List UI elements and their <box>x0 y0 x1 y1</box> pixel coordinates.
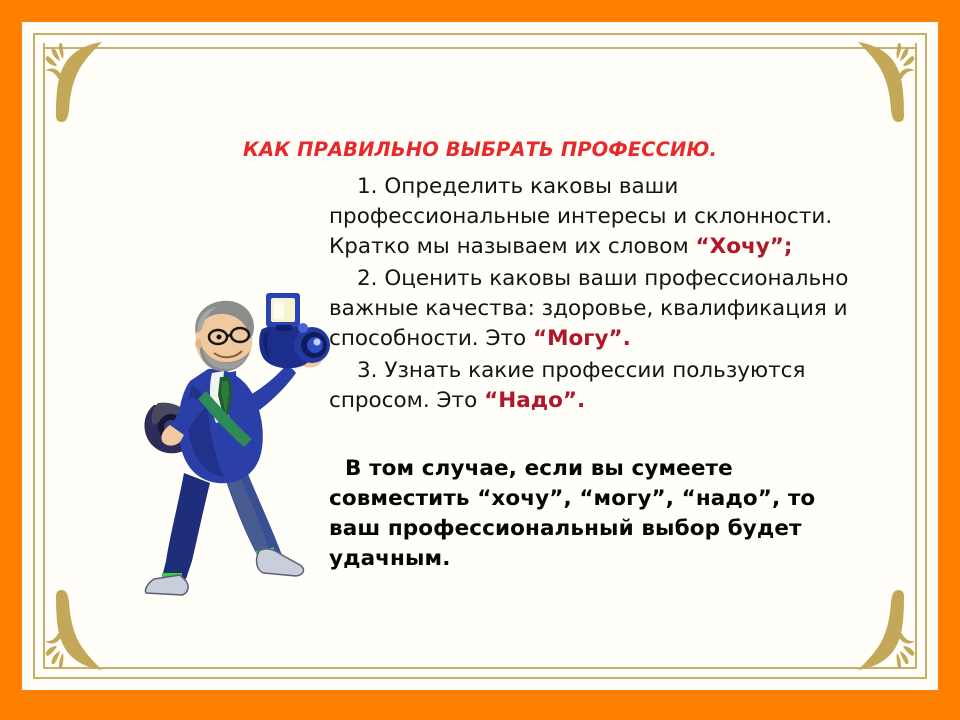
border-rule-inner-top <box>43 47 917 49</box>
body-text-column: 1. Определить каковы ваши профессиональн… <box>329 172 869 574</box>
border-rule-inner-left <box>43 43 45 669</box>
border-rule-inner-bottom <box>43 667 917 669</box>
point-highlight: “Надо”. <box>484 388 585 413</box>
page-title: КАК ПРАВИЛЬНО ВЫБРАТЬ ПРОФЕССИЮ. <box>22 138 938 161</box>
point-number: 3. <box>357 358 378 383</box>
point-number: 2. <box>357 266 378 291</box>
border-rule-outer-left <box>33 33 35 679</box>
border-rule-outer-bottom <box>33 677 927 679</box>
border-rule-outer-top <box>33 33 927 35</box>
border-rule-inner-right <box>915 43 917 669</box>
slide-canvas: КАК ПРАВИЛЬНО ВЫБРАТЬ ПРОФЕССИЮ. <box>0 0 960 720</box>
point-item: 1. Определить каковы ваши профессиональн… <box>329 172 869 262</box>
border-rule-outer-right <box>925 33 927 679</box>
point-number: 1. <box>357 174 378 199</box>
point-highlight: “Могу”. <box>533 326 631 351</box>
point-highlight: “Хочу”; <box>696 234 793 259</box>
photographer-illustration <box>140 277 350 597</box>
point-item: 2. Оценить каковы ваши профессионально в… <box>329 264 869 354</box>
point-item: 3. Узнать какие профессии пользуются спр… <box>329 356 869 416</box>
closing-paragraph: В том случае, если вы сумеете совместить… <box>329 418 869 574</box>
inner-panel: КАК ПРАВИЛЬНО ВЫБРАТЬ ПРОФЕССИЮ. <box>22 22 938 690</box>
